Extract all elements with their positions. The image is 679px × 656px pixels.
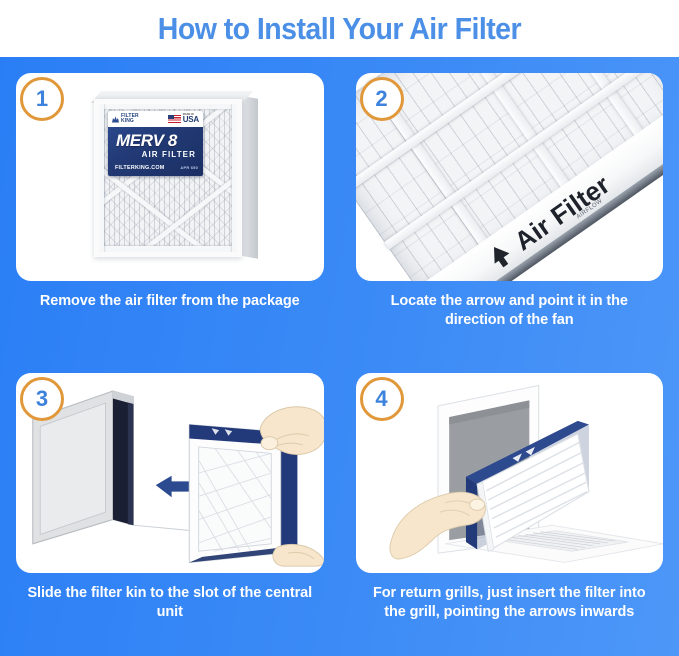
hand-gripping-filter: [260, 406, 323, 454]
hand-supporting-filter: [273, 544, 324, 566]
label-header-strip: FILTER KING MADE IN USA: [108, 111, 203, 127]
step-2-caption: Locate the arrow and point it in the dir…: [356, 292, 664, 330]
step-1-caption: Remove the air filter from the package: [16, 292, 324, 311]
step-1-card: 1: [16, 73, 324, 281]
brand-line-2: KING: [121, 119, 139, 124]
website-text: FILTERKING.COM: [115, 165, 165, 171]
step-2-number: 2: [375, 88, 387, 110]
step-2: 2 Air Filter: [340, 57, 679, 357]
step-3-badge: 3: [20, 377, 64, 421]
brand-name: FILTER KING: [121, 114, 139, 124]
step-4-badge: 4: [360, 377, 404, 421]
apr-code: APR 650: [180, 165, 198, 170]
step-3-number: 3: [36, 388, 48, 410]
step-4-caption: For return grills, just insert the filte…: [356, 584, 664, 622]
step-3: 3: [0, 357, 340, 656]
step-3-caption: Slide the filter kin to the slot of the …: [16, 584, 324, 622]
step-1-badge: 1: [20, 77, 64, 121]
steps-grid: 1: [0, 57, 679, 656]
step-3-card: 3: [16, 373, 324, 573]
infographic-page: How to Install Your Air Filter 1: [0, 0, 679, 656]
insertion-arrow-icon: [156, 475, 193, 496]
filter-king-logo: FILTER KING: [112, 114, 139, 124]
header-bar: How to Install Your Air Filter: [0, 0, 679, 57]
merv-rating: MERV 8: [116, 131, 177, 151]
step-4-number: 4: [375, 388, 387, 410]
step-2-badge: 2: [360, 77, 404, 121]
step-4: 4: [340, 357, 679, 656]
filter-front-face: FILTER KING MADE IN USA: [94, 99, 242, 257]
air-filter-body: FILTER KING MADE IN USA: [90, 93, 262, 261]
country-text: USA: [183, 116, 199, 124]
crown-icon: [112, 116, 119, 123]
usa-flag-icon: [168, 115, 181, 123]
step-1-number: 1: [36, 88, 48, 110]
product-label: FILTER KING MADE IN USA: [108, 111, 203, 176]
page-title: How to Install Your Air Filter: [158, 11, 521, 47]
step-4-card: 4: [356, 373, 664, 573]
made-in-usa-badge: MADE IN USA: [168, 114, 199, 125]
product-subtitle: AIR FILTER: [142, 150, 196, 159]
step-2-card: 2 Air Filter: [356, 73, 664, 281]
step-1: 1: [0, 57, 340, 357]
